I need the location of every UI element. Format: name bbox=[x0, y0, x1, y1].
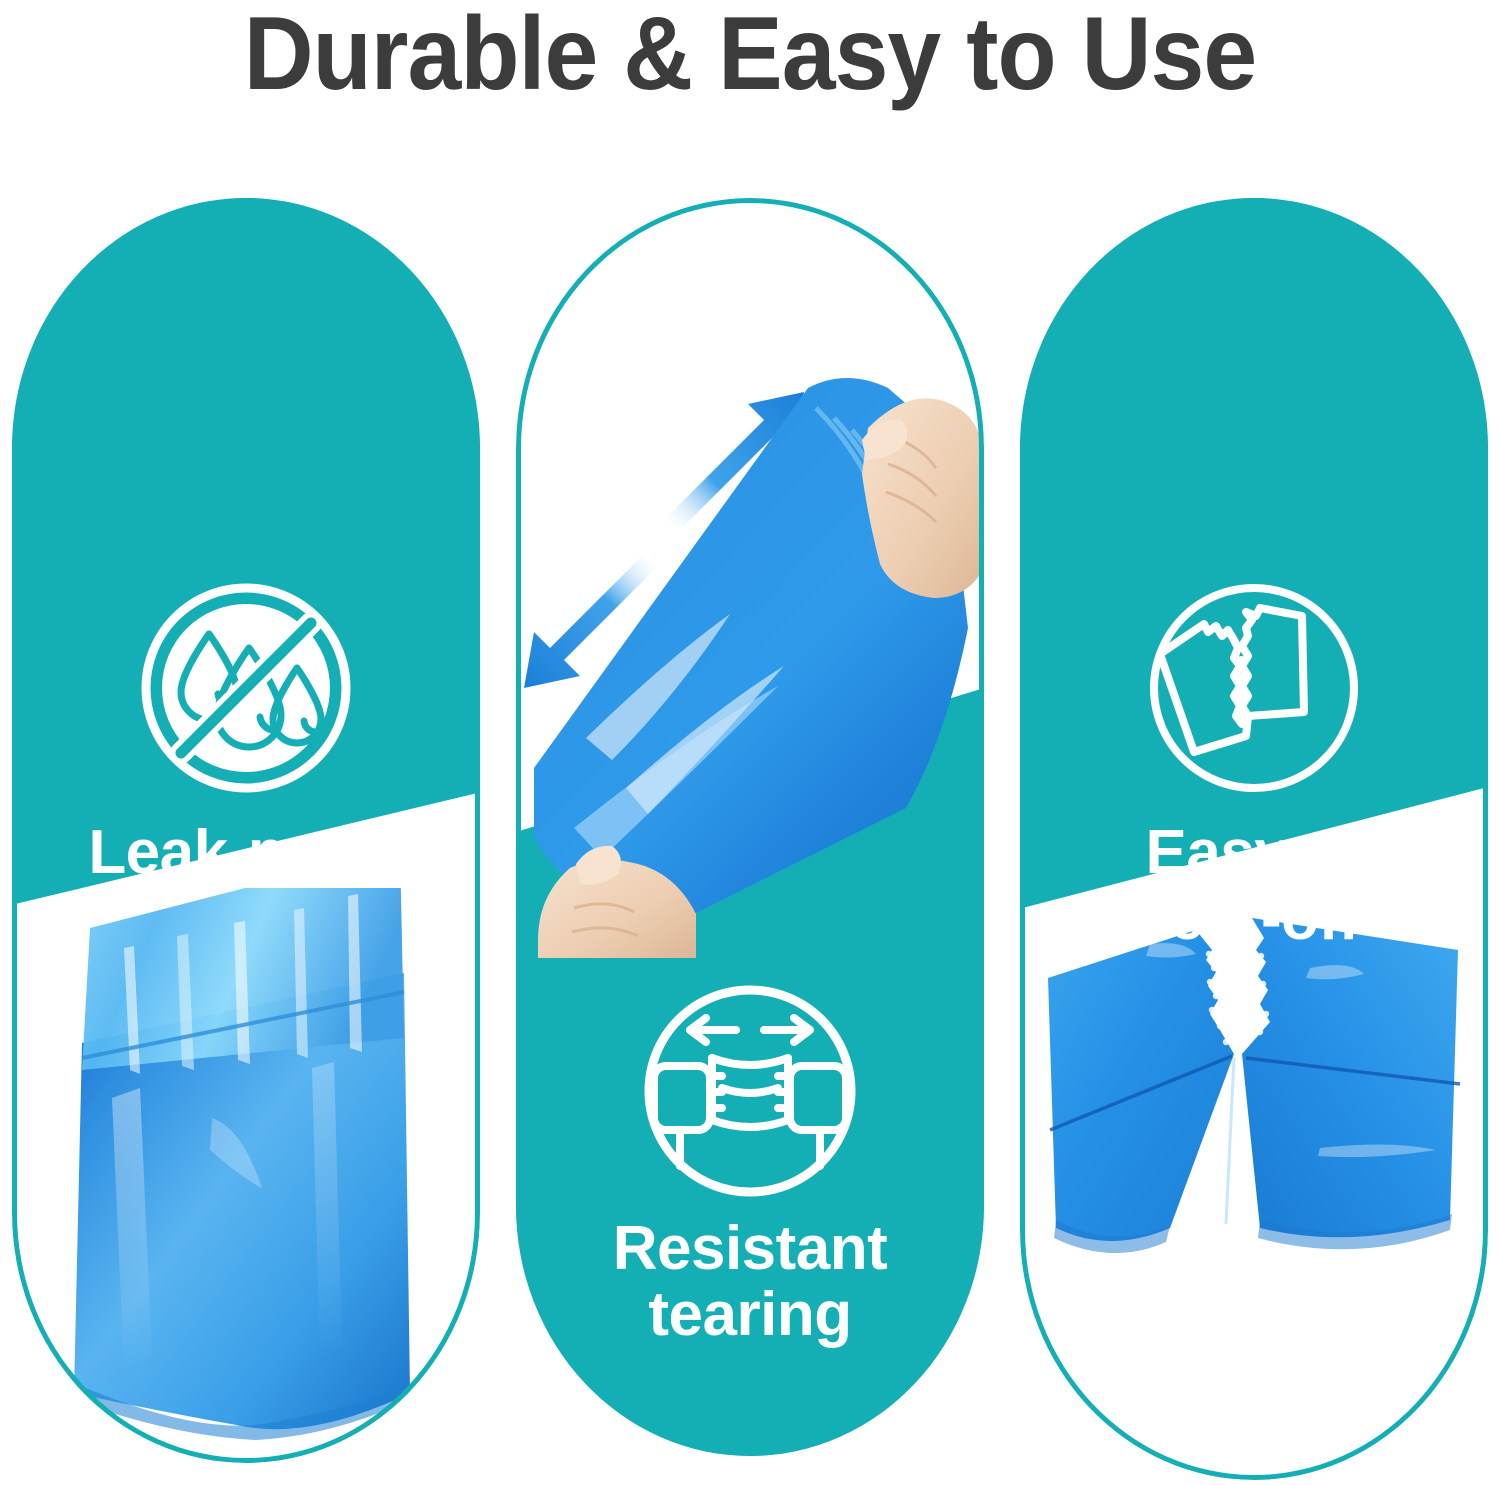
feature-caption-resistant-tearing: Resistant tearing bbox=[516, 1216, 984, 1347]
feature-caption-leak-proof: Leak-proof bbox=[12, 820, 480, 886]
feature-panel-resistant-tearing: Resistant tearing bbox=[516, 198, 984, 1456]
caption-line-2: tearing bbox=[516, 1282, 984, 1348]
torn-bags-photo bbox=[1020, 898, 1488, 1480]
feature-caption-easy-tear-off: Easy to tear-off bbox=[1020, 820, 1488, 951]
caption-line-2: tear-off bbox=[1020, 886, 1488, 952]
hands-stretching-bag-photo bbox=[516, 268, 984, 958]
feature-panel-easy-tear-off: Easy to tear-off bbox=[1020, 198, 1488, 1480]
caption-line-1: Resistant bbox=[516, 1216, 984, 1282]
feature-panel-leak-proof: Leak-proof bbox=[12, 198, 480, 1463]
blue-plastic-bag-photo bbox=[12, 888, 480, 1463]
page-title: Durable & Easy to Use bbox=[53, 2, 1448, 106]
torn-perforated-sheets-icon bbox=[1142, 576, 1366, 800]
fists-stretching-material-icon bbox=[628, 980, 872, 1202]
no-water-droplets-icon bbox=[134, 576, 358, 800]
caption-line-1: Easy to bbox=[1020, 820, 1488, 886]
